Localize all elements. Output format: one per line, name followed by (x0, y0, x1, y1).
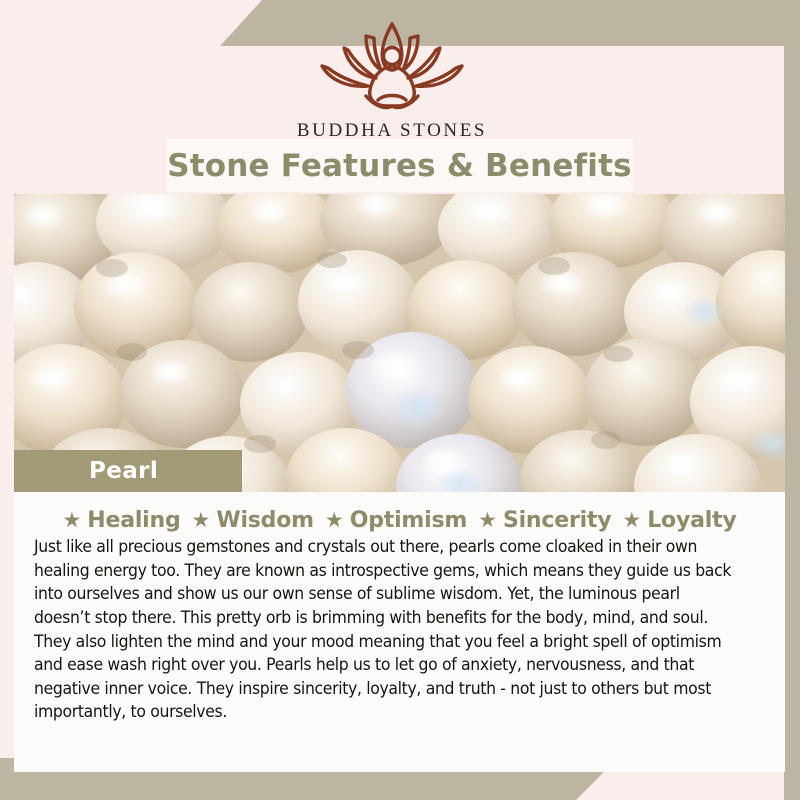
stone-name-label: Pearl (89, 458, 158, 484)
star-icon: ★ (62, 510, 81, 531)
title-banner: Stone Features & Benefits (166, 139, 633, 192)
benefit-item-sincerity: ★ Sincerity (478, 508, 611, 533)
stone-photo (14, 194, 785, 492)
star-icon: ★ (622, 510, 641, 531)
benefits-list: ★ Healing ★ Wisdom ★ Optimism ★ Sincerit… (14, 492, 785, 533)
benefit-label: Healing (87, 508, 180, 533)
star-icon: ★ (192, 510, 211, 531)
benefit-label: Sincerity (503, 508, 611, 533)
page-title: Stone Features & Benefits (167, 148, 632, 184)
star-icon: ★ (325, 510, 344, 531)
benefit-label: Wisdom (216, 508, 314, 533)
star-icon: ★ (478, 510, 497, 531)
description-panel: ★ Healing ★ Wisdom ★ Optimism ★ Sincerit… (14, 492, 785, 772)
benefit-item-loyalty: ★ Loyalty (622, 508, 736, 533)
benefit-item-healing: ★ Healing (62, 508, 180, 533)
stone-name-tag: Pearl (14, 450, 242, 492)
benefit-label: Optimism (350, 508, 467, 533)
brand-header: BUDDHA STONES (0, 14, 784, 142)
infographic-card: BUDDHA STONES Stone Features & Benefits (0, 0, 800, 800)
lotus-meditation-logo-icon (0, 14, 784, 118)
benefit-item-optimism: ★ Optimism (325, 508, 467, 533)
benefit-item-wisdom: ★ Wisdom (192, 508, 314, 533)
description-text: Just like all precious gemstones and cry… (34, 535, 734, 724)
frame-right-accent (784, 0, 800, 800)
benefit-label: Loyalty (647, 508, 736, 533)
